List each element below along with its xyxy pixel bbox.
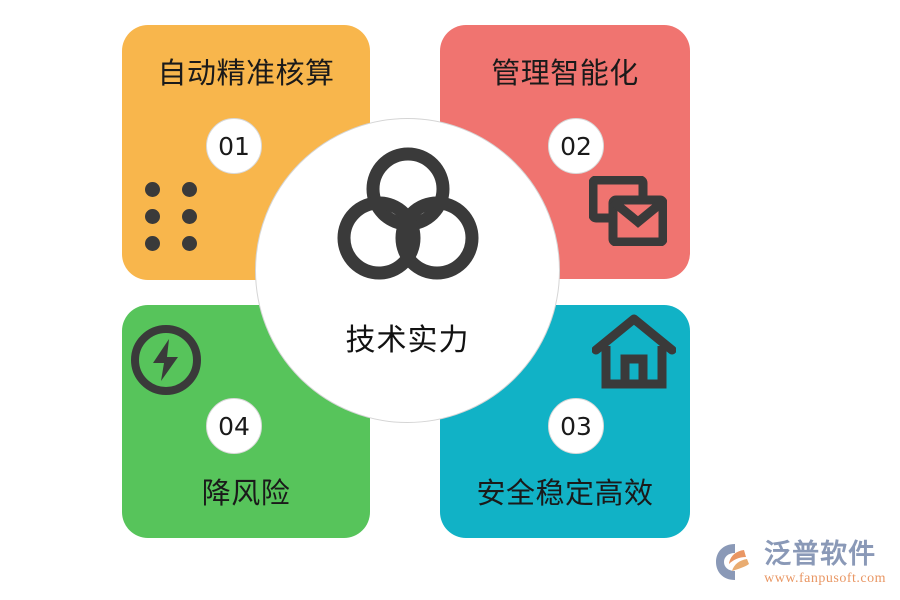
badge-number-01: 01 (206, 118, 262, 174)
badge-number-02: 02 (548, 118, 604, 174)
card-title: 安全稳定高效 (440, 478, 690, 510)
house-icon (592, 312, 676, 396)
center-label: 技术实力 (346, 315, 470, 359)
mail-envelope-icon (589, 176, 667, 250)
card-title: 自动精准核算 (122, 58, 370, 90)
fanpu-logo-icon (714, 542, 756, 586)
badge-number-03: 03 (548, 398, 604, 454)
card-title: 管理智能化 (440, 58, 690, 90)
infographic-canvas: 自动精准核算 管理智能化 安全稳定高效 (0, 0, 900, 600)
bolt-circle-icon (128, 322, 204, 402)
center-hub[interactable]: 技术实力 (255, 118, 560, 423)
watermark-name: 泛普软件 (764, 541, 876, 568)
dots-grid-icon (145, 182, 197, 251)
watermark-url: www.fanpusoft.com (764, 572, 886, 586)
badge-number-04: 04 (206, 398, 262, 454)
watermark: 泛普软件 www.fanpusoft.com (714, 541, 886, 586)
three-overlapping-circles-icon (333, 145, 483, 289)
card-title: 降风险 (122, 478, 370, 510)
